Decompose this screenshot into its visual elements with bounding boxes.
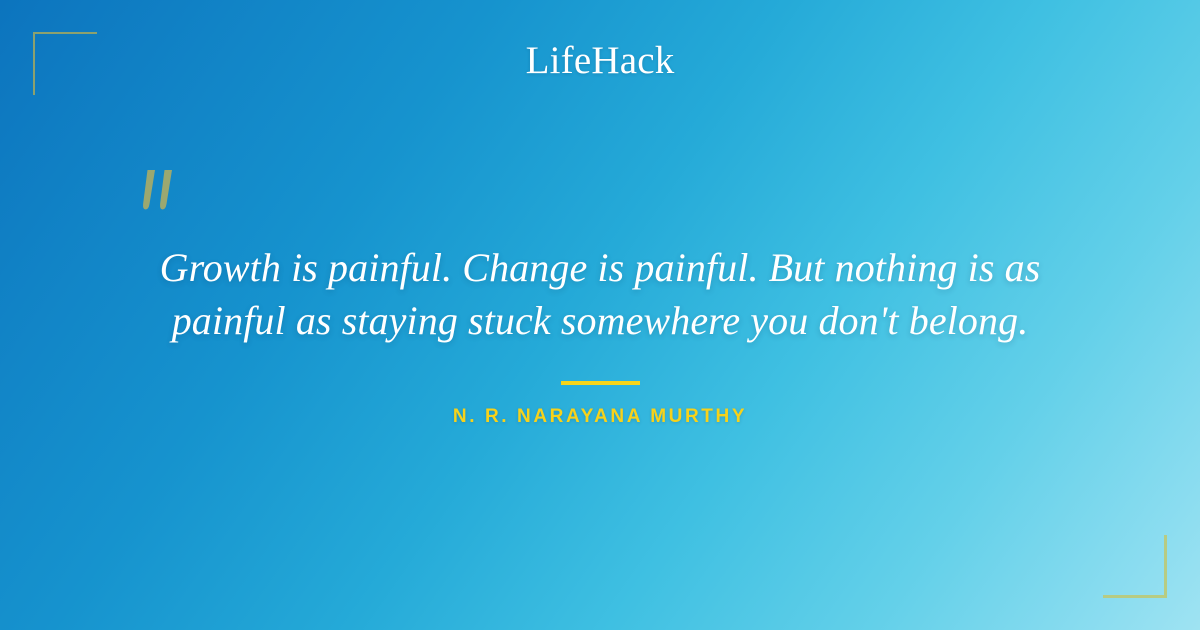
- quote-card: LifeHack Growth is painful. Change is pa…: [0, 0, 1200, 630]
- quote-divider: [561, 381, 640, 385]
- quote-author: N. R. NARAYANA MURTHY: [0, 407, 1200, 426]
- corner-bracket-bottom-right-icon: [1103, 535, 1167, 598]
- quote-text: Growth is painful. Change is painful. Bu…: [0, 168, 1200, 347]
- lifehack-logo: LifeHack: [0, 41, 1200, 80]
- quote-block: Growth is painful. Change is painful. Bu…: [0, 168, 1200, 426]
